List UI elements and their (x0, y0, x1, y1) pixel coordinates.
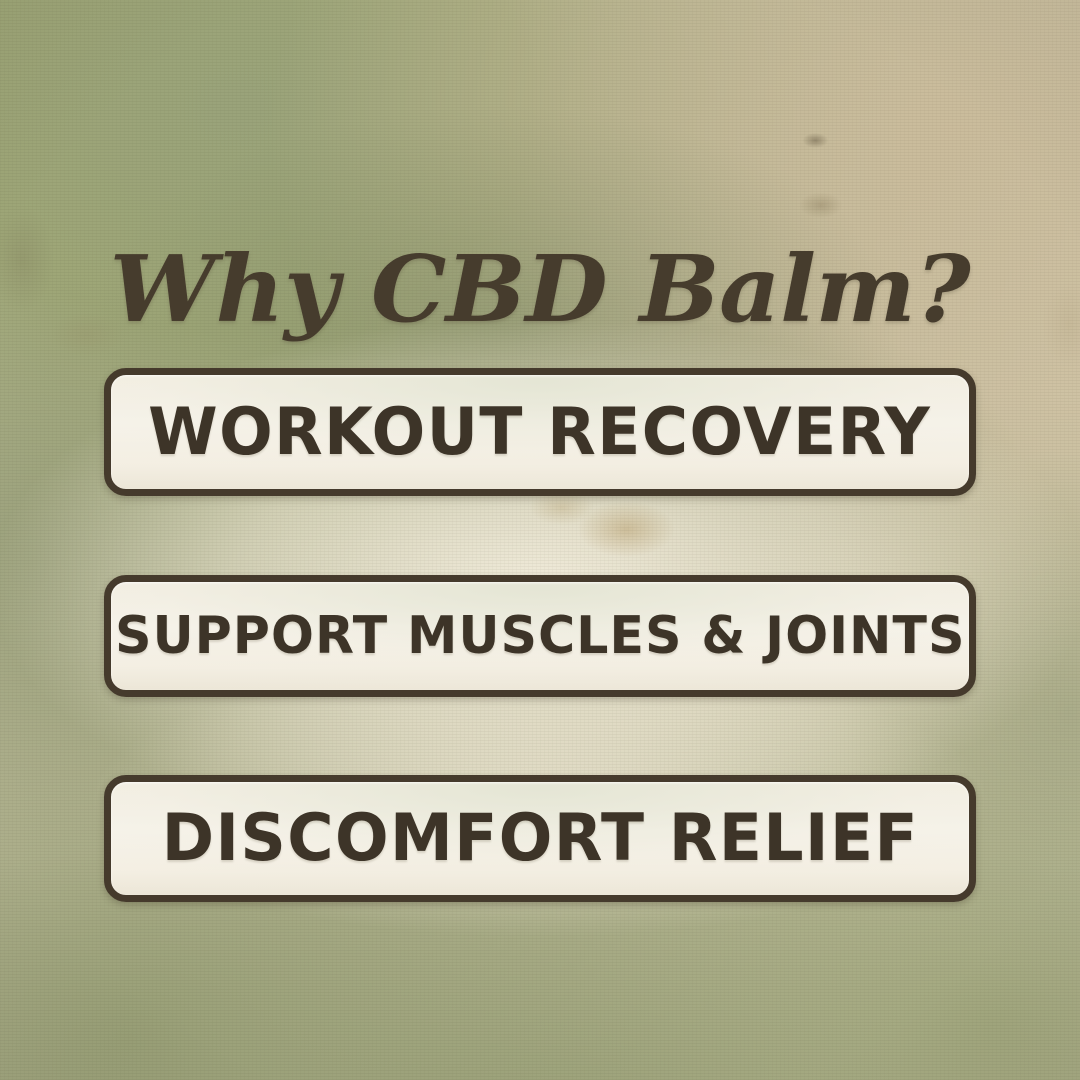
page-title: Why CBD Balm? (0, 243, 1080, 335)
benefit-card-discomfort-relief[interactable]: DISCOMFORT RELIEF (104, 775, 976, 902)
benefit-label: DISCOMFORT RELIEF (161, 806, 918, 871)
benefit-card-support-muscles-joints[interactable]: SUPPORT MUSCLES & JOINTS (104, 575, 976, 697)
poster-canvas: Why CBD Balm? WORKOUT RECOVERY SUPPORT M… (0, 0, 1080, 1080)
poster-content: Why CBD Balm? WORKOUT RECOVERY SUPPORT M… (0, 0, 1080, 1080)
benefit-card-workout-recovery[interactable]: WORKOUT RECOVERY (104, 368, 976, 496)
benefit-label: WORKOUT RECOVERY (148, 400, 931, 465)
benefit-label: SUPPORT MUSCLES & JOINTS (115, 610, 965, 662)
